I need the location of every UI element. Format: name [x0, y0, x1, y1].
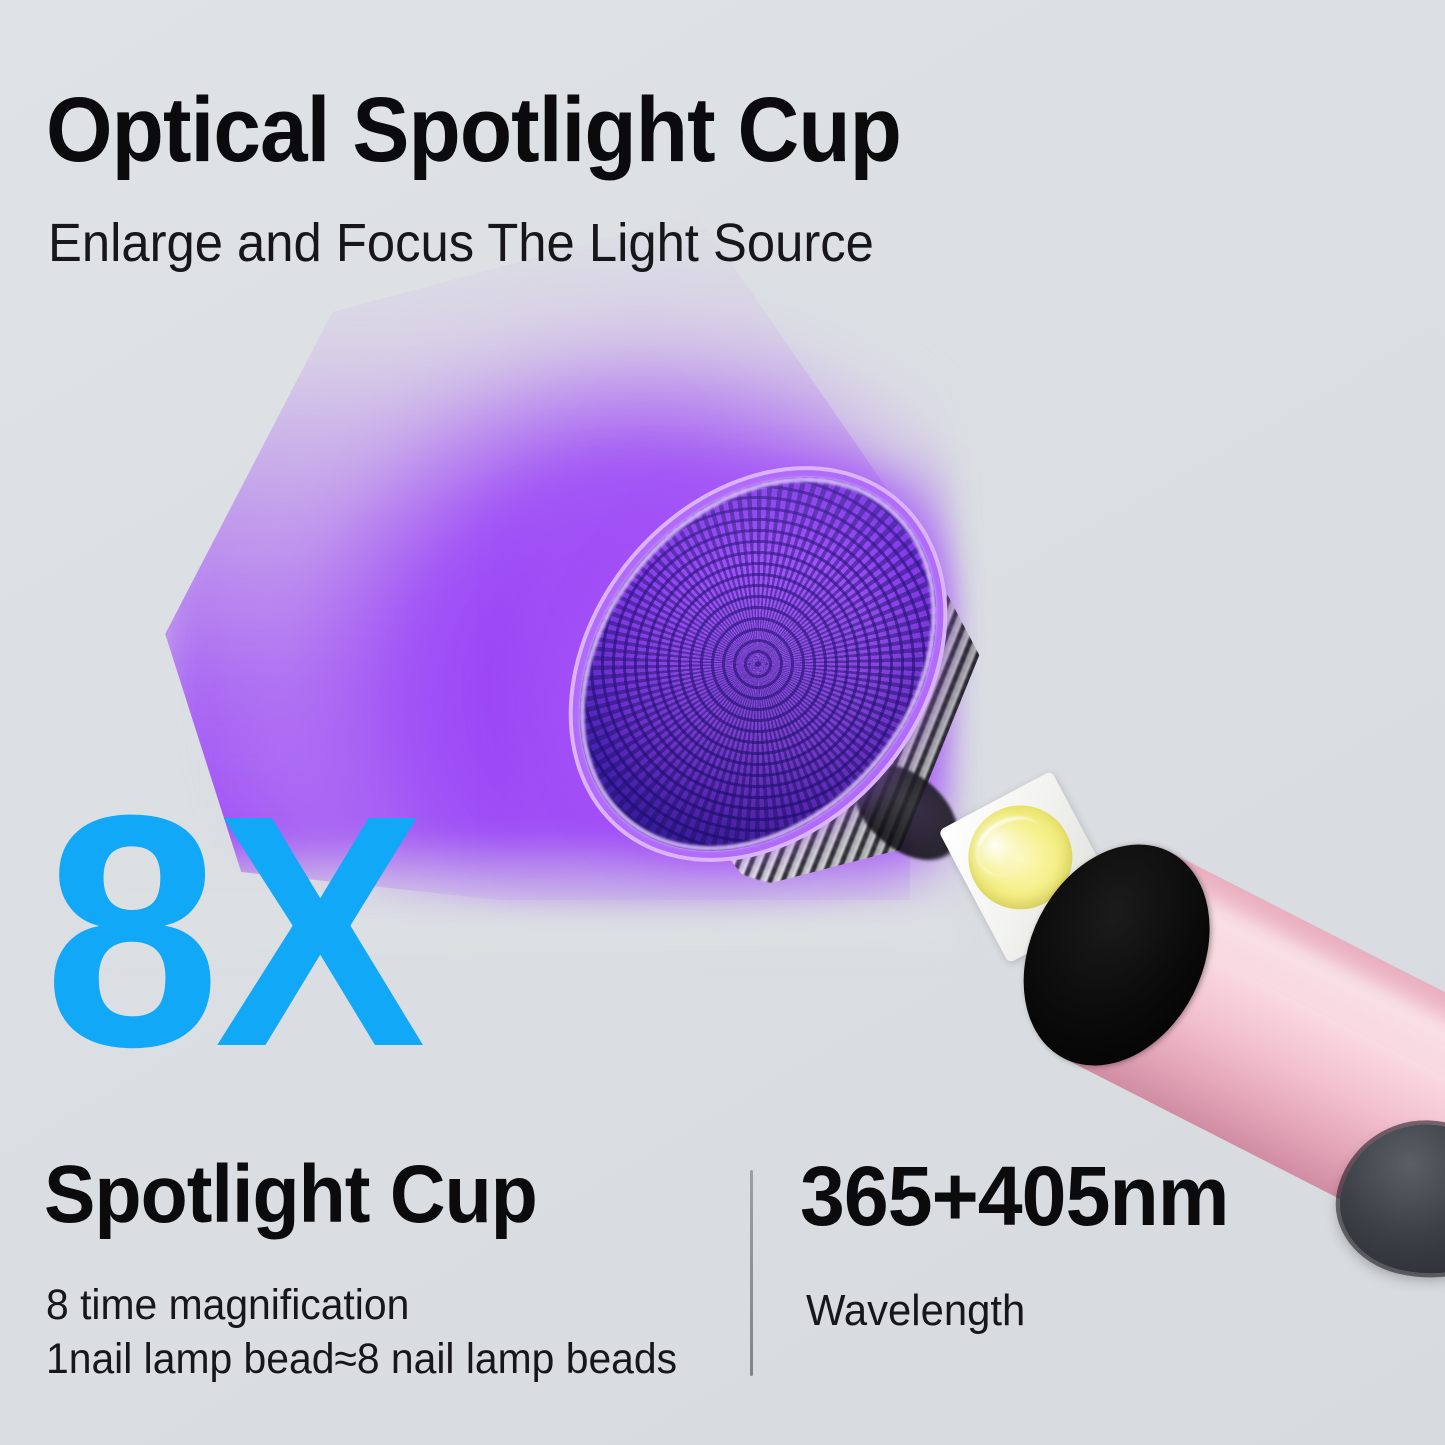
- magnification-badge: 8X: [44, 766, 420, 1096]
- wavelength-label: Wavelength: [806, 1286, 1025, 1336]
- product-marketing-image: Optical Spotlight Cup Enlarge and Focus …: [0, 0, 1445, 1445]
- feature-line-magnification: 8 time magnification: [46, 1278, 677, 1332]
- feature-divider: [750, 1170, 753, 1376]
- page-subtitle: Enlarge and Focus The Light Source: [48, 212, 874, 274]
- feature-spotlight-cup-details: 8 time magnification 1nail lamp bead≈8 n…: [46, 1278, 677, 1386]
- page-title: Optical Spotlight Cup: [46, 78, 901, 183]
- feature-spotlight-cup-title: Spotlight Cup: [44, 1148, 537, 1242]
- wavelength-value: 365+405nm: [800, 1148, 1229, 1245]
- feature-line-bead-equivalence: 1nail lamp bead≈8 nail lamp beads: [46, 1332, 677, 1386]
